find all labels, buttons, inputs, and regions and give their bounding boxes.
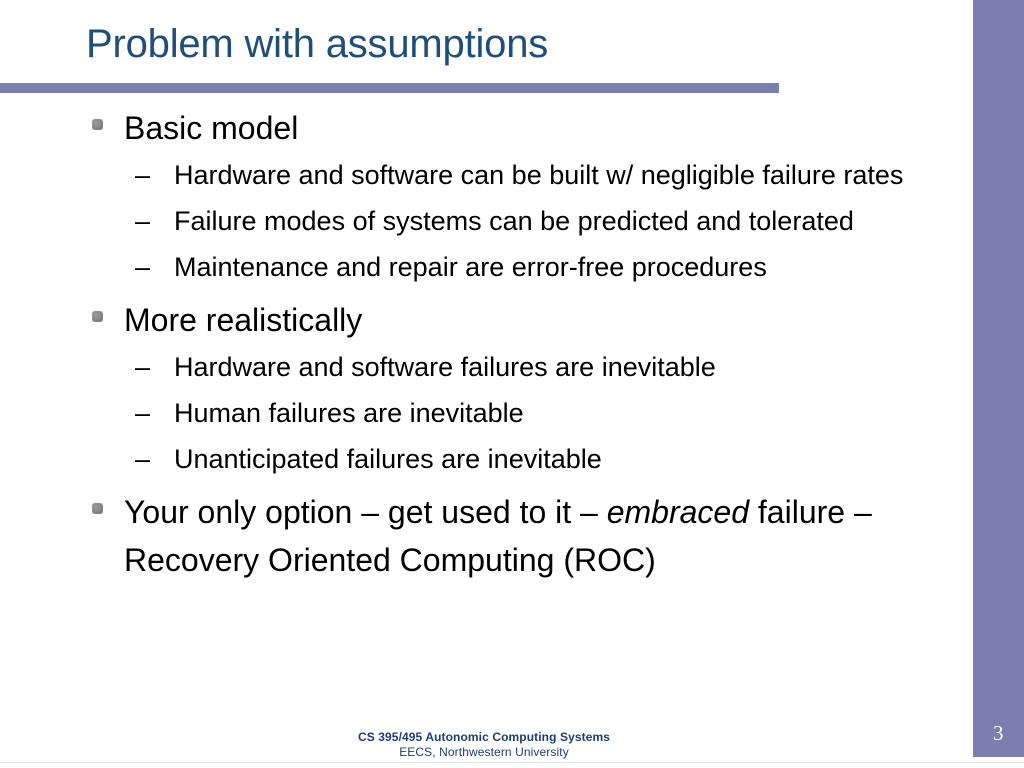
dash-bullet-icon: –	[135, 245, 174, 290]
list-item: – Maintenance and repair are error-free …	[0, 245, 968, 290]
footer-course-label: CS 395/495 Autonomic Computing Systems	[0, 730, 968, 745]
list-item-final: Your only option – get used to it – embr…	[0, 488, 968, 584]
dot-bullet-icon	[88, 296, 124, 322]
final-text-emphasis: embraced	[607, 494, 749, 530]
list-item-label: Hardware and software can be built w/ ne…	[174, 153, 946, 198]
dash-bullet-icon: –	[135, 437, 174, 482]
dot-bullet-icon	[88, 488, 124, 514]
footer-affiliation-label: EECS, Northwestern University	[0, 745, 968, 760]
list-item-label: Human failures are inevitable	[174, 391, 946, 436]
list-item: More realistically	[0, 296, 968, 344]
dash-bullet-icon: –	[135, 199, 174, 244]
footer: CS 395/495 Autonomic Computing Systems E…	[0, 730, 968, 760]
final-text-part1: Your only option – get used to it –	[124, 494, 607, 530]
dash-bullet-icon: –	[135, 153, 174, 198]
sidebar-accent-band	[973, 0, 1024, 757]
dash-bullet-icon: –	[135, 391, 174, 436]
list-item: – Hardware and software can be built w/ …	[0, 153, 968, 198]
slide: 3 Problem with assumptions Basic model –…	[0, 0, 1024, 768]
list-item: – Failure modes of systems can be predic…	[0, 199, 968, 244]
list-item: – Human failures are inevitable	[0, 391, 968, 436]
list-item-label: Maintenance and repair are error-free pr…	[174, 245, 946, 290]
list-item-label: Basic model	[124, 104, 952, 152]
list-item-label: Unanticipated failures are inevitable	[174, 437, 946, 482]
bullet-list: Basic model – Hardware and software can …	[0, 104, 968, 704]
list-item-label: More realistically	[124, 296, 952, 344]
list-item-label: Failure modes of systems can be predicte…	[174, 199, 946, 244]
page-title: Problem with assumptions	[86, 20, 786, 68]
slide-number: 3	[973, 721, 1024, 746]
list-item: – Hardware and software failures are ine…	[0, 345, 968, 390]
list-item: Basic model	[0, 104, 968, 152]
list-item-label: Hardware and software failures are inevi…	[174, 345, 946, 390]
title-underline-rule	[0, 83, 779, 93]
list-item: – Unanticipated failures are inevitable	[0, 437, 968, 482]
dash-bullet-icon: –	[135, 345, 174, 390]
dot-bullet-icon	[88, 104, 124, 130]
bottom-divider	[0, 762, 1024, 763]
list-item-label-final: Your only option – get used to it – embr…	[124, 488, 952, 584]
